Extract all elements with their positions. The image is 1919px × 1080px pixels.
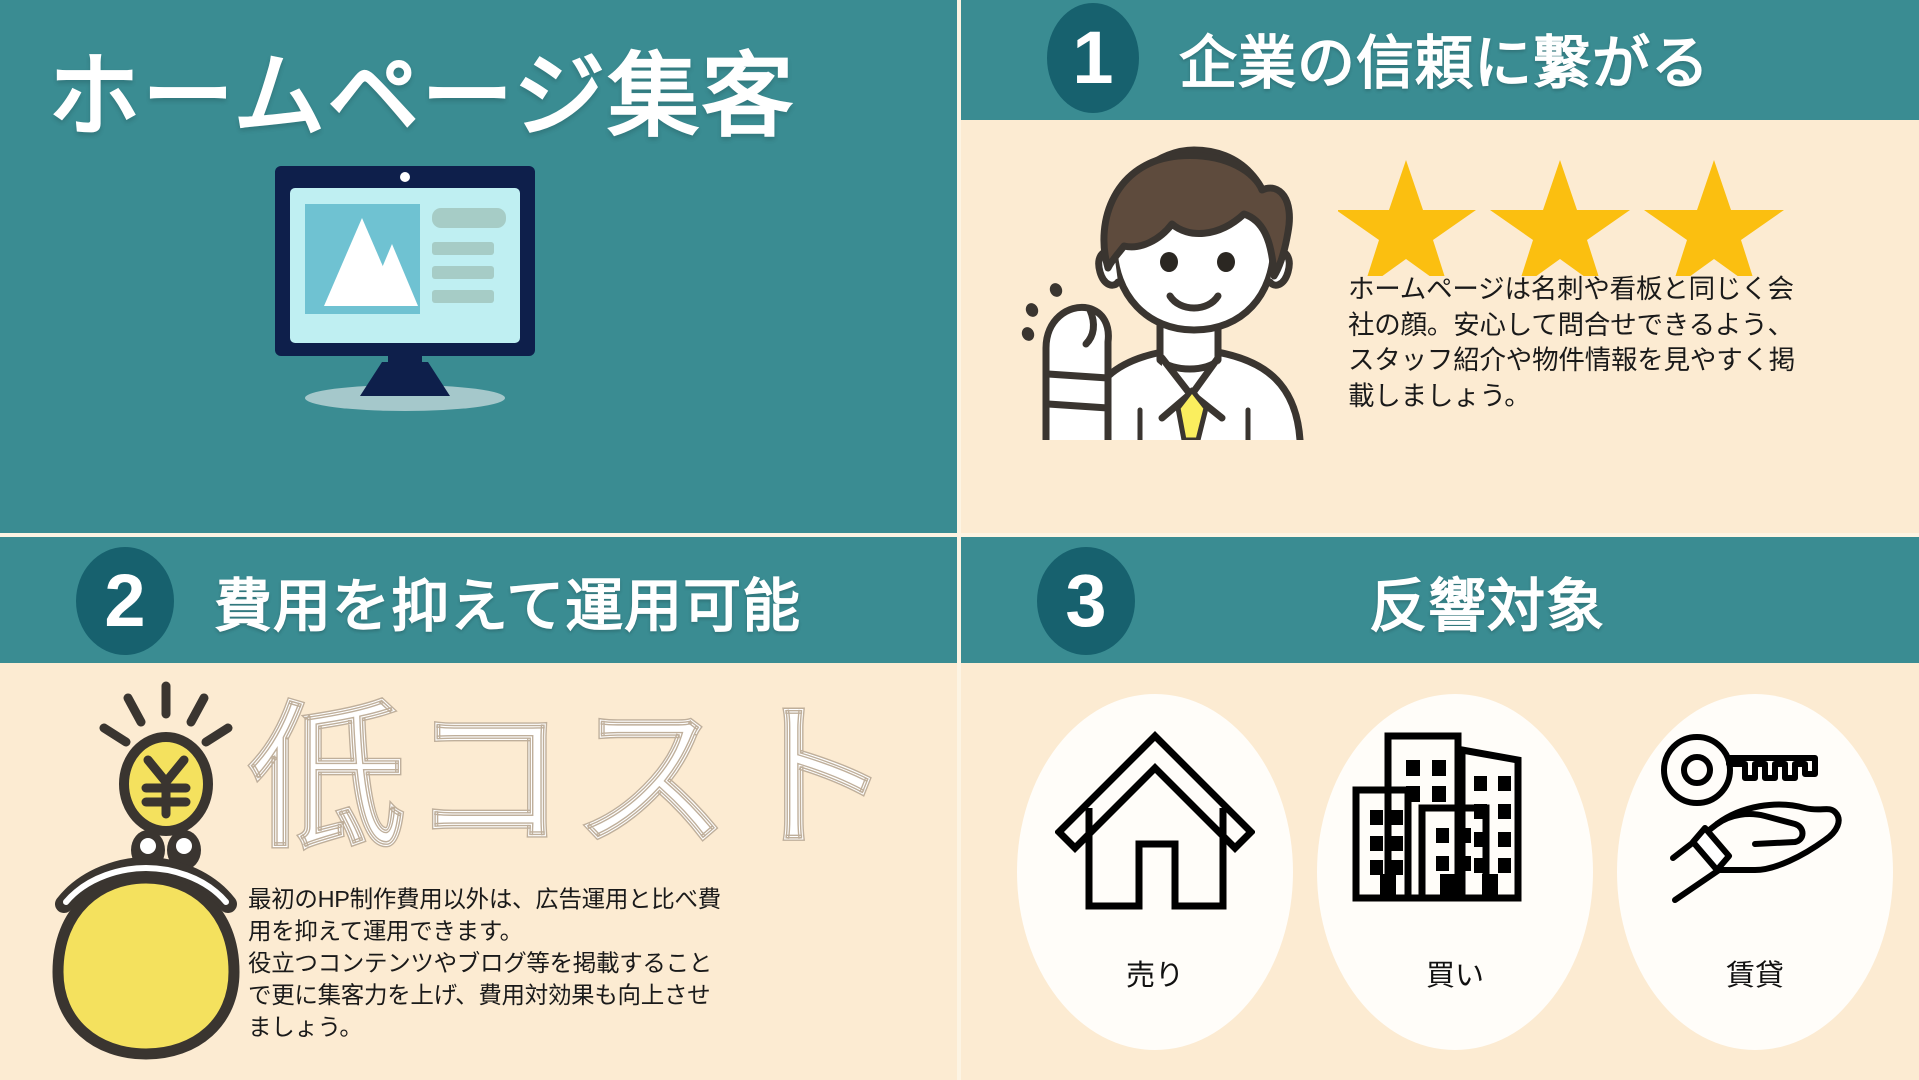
desktop-monitor-icon — [240, 166, 570, 416]
list-item[interactable]: 賃貸 — [1605, 694, 1905, 1050]
list-item-label: 買い — [1305, 952, 1605, 994]
panel-2-headline: 低コスト — [248, 700, 896, 858]
list-item-label: 売り — [1005, 952, 1305, 994]
panel-2-body: 最初のHP制作費用以外は、広告運用と比べ費用を抑えて運用できます。 役立つコンテ… — [248, 884, 728, 1044]
vertical-divider — [957, 0, 961, 1080]
buildings-outline-icon — [1350, 728, 1560, 913]
star-icon — [1490, 160, 1630, 276]
star-icon — [1338, 160, 1476, 276]
businessman-pointing-up-icon — [1012, 128, 1342, 440]
star-icon — [1644, 160, 1784, 276]
target-audience-list: 売り — [1005, 694, 1905, 1050]
panel-1-title: 企業の信頼に繋がる — [1179, 16, 1710, 100]
house-outline-icon — [1055, 728, 1255, 923]
key-in-hand-icon — [1645, 728, 1865, 913]
panel-2-number-badge: 2 — [76, 547, 174, 655]
panel-3-number-badge: 3 — [1037, 547, 1135, 655]
panel-1-body: ホームページは名刺や看板と同じく会社の顔。安心して問合せできるよう、スタッフ紹介… — [1348, 272, 1803, 414]
list-item[interactable]: 売り — [1005, 694, 1305, 1050]
panel-1-number-badge: 1 — [1047, 3, 1139, 113]
horizontal-divider — [0, 533, 1919, 537]
infographic-root: ホームページ集客 1 企業の信頼に繋がる — [0, 0, 1919, 1080]
page-title: ホームページ集客 — [48, 22, 795, 155]
star-rating — [1338, 158, 1788, 276]
coin-purse-yen-icon — [36, 672, 256, 1072]
panel-2-title: 費用を抑えて運用可能 — [214, 559, 801, 643]
panel-3-title: 反響対象 — [1369, 559, 1605, 643]
list-item-label: 賃貸 — [1605, 952, 1905, 994]
panel-hero: ホームページ集客 — [0, 0, 957, 533]
list-item[interactable]: 買い — [1305, 694, 1605, 1050]
